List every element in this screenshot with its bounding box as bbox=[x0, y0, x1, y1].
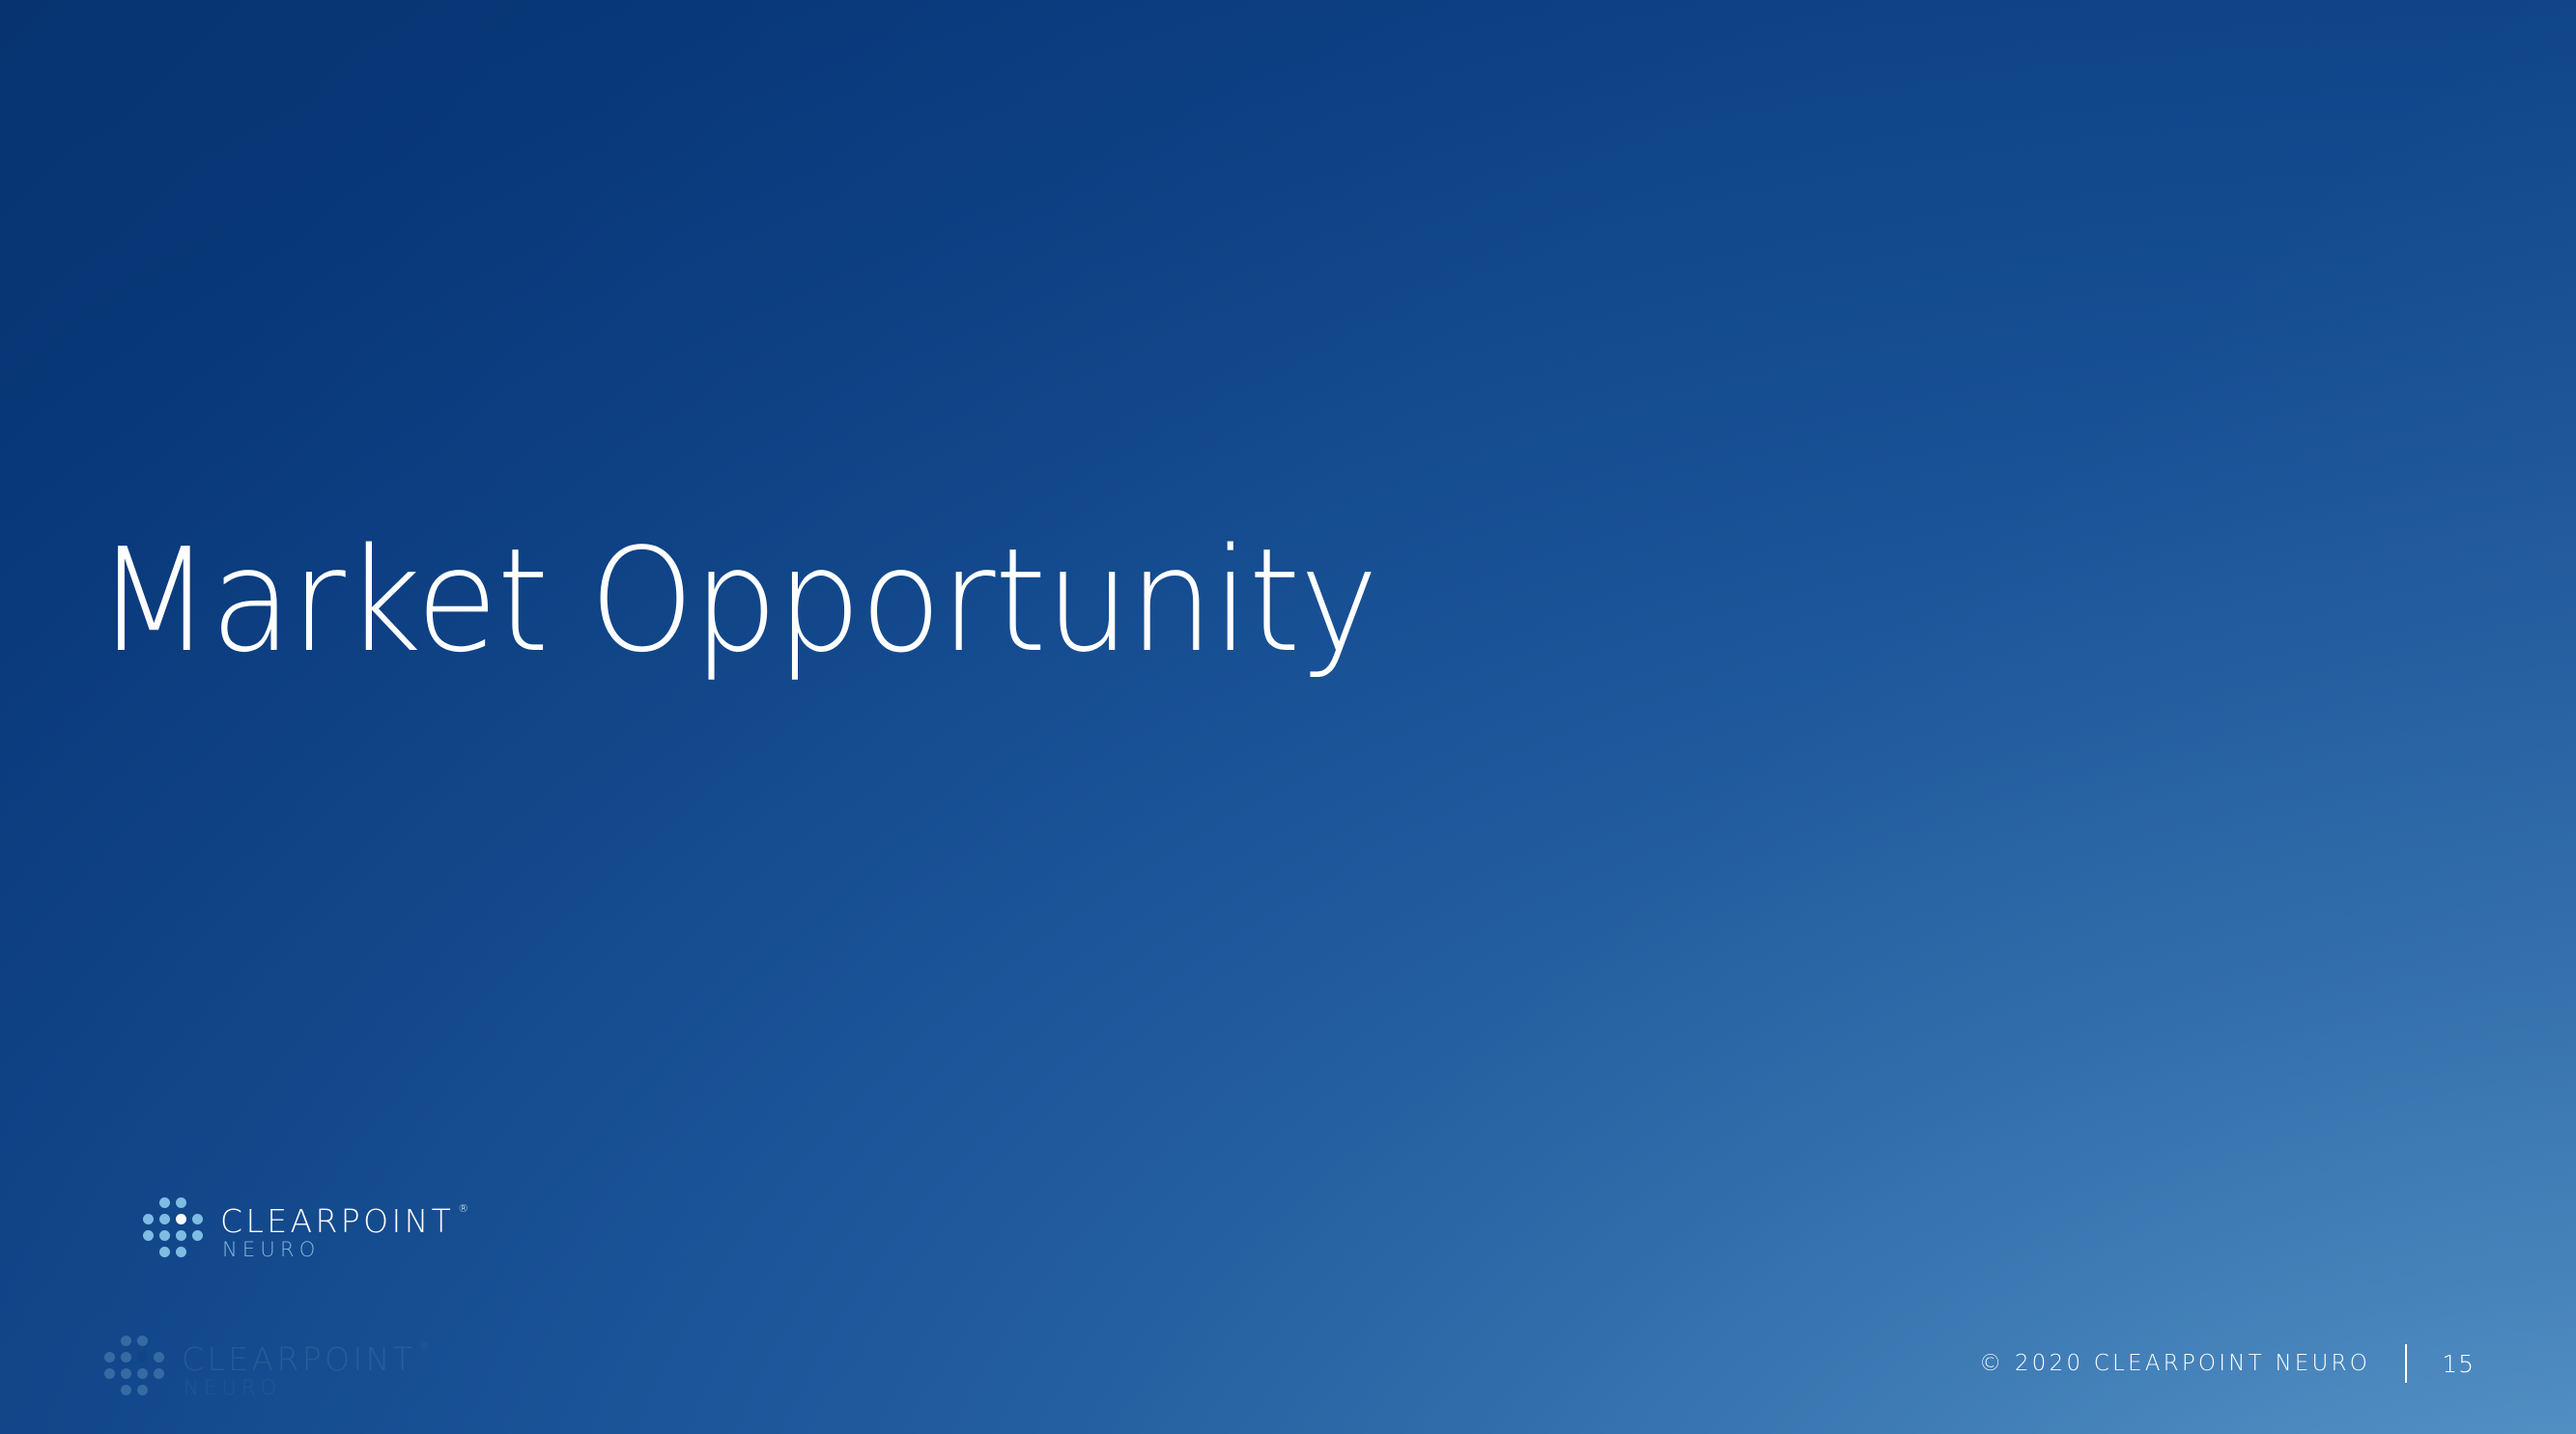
logo-dot bbox=[137, 1368, 148, 1379]
logo-dot bbox=[154, 1352, 164, 1363]
clearpoint-logo: CLEARPOINT ® NEURO bbox=[143, 1197, 454, 1267]
logo-wordmark: CLEARPOINT ® NEURO bbox=[220, 1205, 454, 1260]
clearpoint-logo-watermark: CLEARPOINT ® NEURO bbox=[104, 1336, 415, 1405]
logo-dot bbox=[192, 1230, 203, 1241]
logo-dot bbox=[159, 1214, 170, 1224]
logo-dot-center bbox=[137, 1352, 148, 1363]
slide-footer: © 2020 CLEARPOINT NEURO 15 bbox=[1979, 1342, 2475, 1385]
logo-dot bbox=[121, 1336, 131, 1346]
logo-dot bbox=[137, 1336, 148, 1346]
logo-dot bbox=[159, 1197, 170, 1208]
page-number: 15 bbox=[2442, 1350, 2475, 1378]
logo-name: CLEARPOINT ® bbox=[182, 1343, 415, 1375]
logo-dot bbox=[159, 1247, 170, 1257]
logo-dot bbox=[154, 1368, 164, 1379]
logo-dot bbox=[121, 1352, 131, 1363]
registered-trademark-icon: ® bbox=[419, 1341, 430, 1352]
logo-dot bbox=[121, 1368, 131, 1379]
logo-wordmark: CLEARPOINT ® NEURO bbox=[182, 1343, 415, 1398]
logo-name-text: CLEARPOINT bbox=[220, 1202, 454, 1240]
dot-matrix-icon bbox=[104, 1336, 164, 1405]
logo-dot bbox=[104, 1352, 115, 1363]
slide-canvas: Market Opportunity CLEARPOINT ® bbox=[0, 0, 2576, 1434]
logo-dot bbox=[143, 1214, 154, 1224]
logo-dot bbox=[159, 1230, 170, 1241]
page-title: Market Opportunity bbox=[97, 529, 1377, 672]
logo-name: CLEARPOINT ® bbox=[220, 1205, 454, 1237]
logo-dot bbox=[121, 1385, 131, 1395]
logo-dot-center bbox=[176, 1214, 186, 1224]
logo-dot bbox=[143, 1230, 154, 1241]
logo-dot bbox=[176, 1247, 186, 1257]
logo-subtitle: NEURO bbox=[220, 1240, 454, 1260]
logo-dot bbox=[176, 1230, 186, 1241]
logo-dot bbox=[192, 1214, 203, 1224]
dot-matrix-icon bbox=[143, 1197, 203, 1267]
logo-dot bbox=[176, 1197, 186, 1208]
logo-dot bbox=[137, 1385, 148, 1395]
logo-subtitle: NEURO bbox=[182, 1378, 415, 1398]
registered-trademark-icon: ® bbox=[458, 1203, 468, 1214]
logo-name-text: CLEARPOINT bbox=[182, 1340, 415, 1378]
footer-divider bbox=[2405, 1344, 2407, 1383]
logo-dot bbox=[104, 1368, 115, 1379]
copyright-text: © 2020 CLEARPOINT NEURO bbox=[1979, 1351, 2370, 1376]
